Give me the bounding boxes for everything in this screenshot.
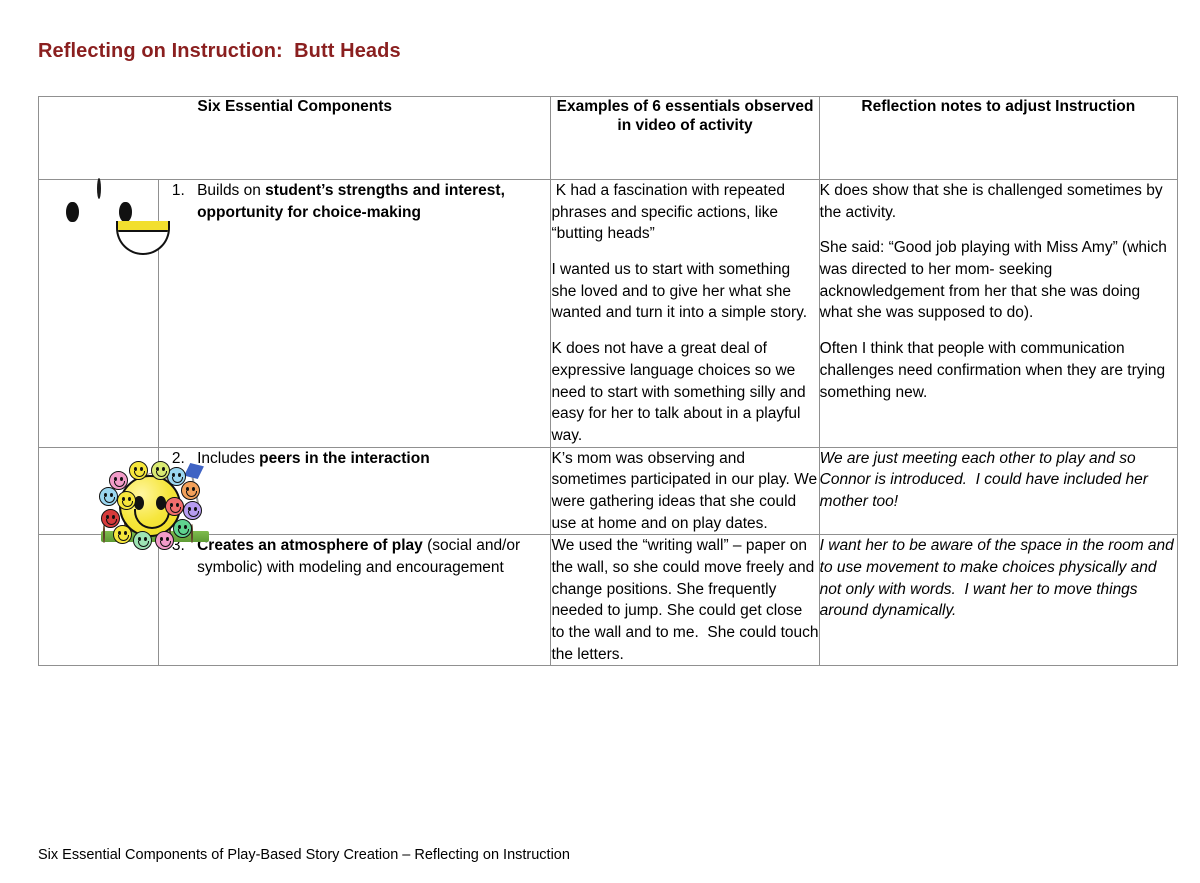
component-bold-3: Creates an atmosphere of play — [197, 537, 423, 554]
column-header-components: Six Essential Components — [39, 97, 551, 180]
reflection-cell-2: We are just meeting each other to play a… — [819, 447, 1177, 535]
component-lead-1: Builds on — [197, 182, 265, 199]
examples-paragraph: K’s mom was observing and sometimes part… — [551, 448, 818, 535]
reflection-cell-1: K does show that she is challenged somet… — [819, 180, 1177, 448]
component-cell-2: Includes peers in the interaction — [159, 447, 551, 535]
reflection-paragraph: Often I think that people with communica… — [820, 338, 1177, 403]
table-header-row: Six Essential Components Examples of 6 e… — [39, 97, 1178, 180]
component-item-2: Includes peers in the interaction — [189, 448, 550, 470]
reflection-matrix-table: Six Essential Components Examples of 6 e… — [38, 96, 1178, 666]
component-bold-2: peers in the interaction — [259, 450, 430, 467]
examples-cell-3: We used the “writing wall” – paper on th… — [551, 535, 819, 666]
component-item-3: Creates an atmosphere of play (social an… — [189, 535, 550, 579]
page-title: Reflecting on Instruction: Butt Heads — [38, 40, 401, 63]
examples-paragraph: K does not have a great deal of expressi… — [551, 338, 818, 446]
component-lead-2: Includes — [197, 450, 259, 467]
row-icon-cell-1 — [39, 180, 159, 448]
table-row: Creates an atmosphere of play (social an… — [39, 535, 1178, 666]
examples-paragraph: K had a fascination with repeated phrase… — [551, 180, 818, 245]
component-cell-1: Builds on student’s strengths and intere… — [159, 180, 551, 448]
document-page: Reflecting on Instruction: Butt Heads Si… — [0, 0, 1200, 883]
examples-cell-1: K had a fascination with repeated phrase… — [551, 180, 819, 448]
column-header-reflection: Reflection notes to adjust Instruction — [819, 97, 1177, 180]
component-item-1: Builds on student’s strengths and intere… — [189, 180, 550, 224]
page-footer: Six Essential Components of Play-Based S… — [38, 847, 570, 863]
row-icon-cell-2 — [39, 447, 159, 535]
table-row: Includes peers in the interaction K’s mo… — [39, 447, 1178, 535]
reflection-paragraph: She said: “Good job playing with Miss Am… — [820, 237, 1177, 324]
row-icon-cell-3 — [39, 535, 159, 666]
reflection-paragraph: K does show that she is challenged somet… — [820, 180, 1177, 223]
table-row: Builds on student’s strengths and intere… — [39, 180, 1178, 448]
column-header-examples: Examples of 6 essentials observed in vid… — [551, 97, 819, 180]
examples-cell-2: K’s mom was observing and sometimes part… — [551, 447, 819, 535]
component-cell-3: Creates an atmosphere of play (social an… — [159, 535, 551, 666]
examples-paragraph: We used the “writing wall” – paper on th… — [551, 535, 818, 665]
examples-paragraph: I wanted us to start with something she … — [551, 259, 818, 324]
reflection-paragraph: I want her to be aware of the space in t… — [820, 535, 1177, 622]
reflection-cell-3: I want her to be aware of the space in t… — [819, 535, 1177, 666]
reflection-paragraph: We are just meeting each other to play a… — [820, 448, 1177, 513]
